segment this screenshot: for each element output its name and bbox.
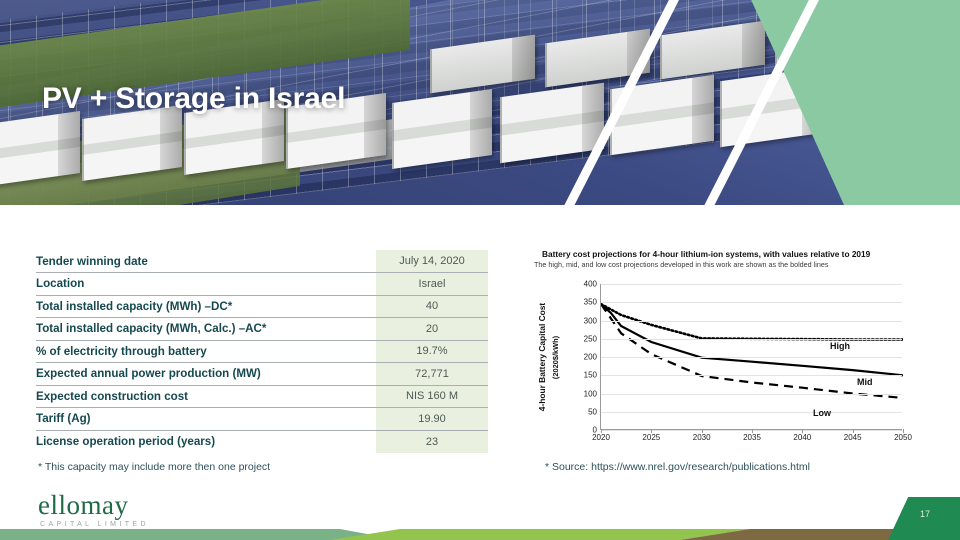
chart-gridline — [601, 302, 902, 303]
table-row: Tariff (Ag) 19.90 — [36, 408, 488, 431]
chart-y-tick: 200 — [584, 353, 597, 362]
chart-plot-area: 0501001502002503003504002020202520302035… — [600, 284, 902, 430]
chart-y-tick: 300 — [584, 316, 597, 325]
row-label: Tariff (Ag) — [36, 408, 376, 431]
chart-x-tick: 2035 — [743, 433, 761, 442]
slide: PV + Storage in Israel Tender winning da… — [0, 0, 960, 540]
row-label: Location — [36, 273, 376, 296]
chart-x-tick: 2040 — [793, 433, 811, 442]
bottom-color-strip — [0, 529, 960, 540]
table-row: Total installed capacity (MWh, Calc.) –A… — [36, 318, 488, 341]
row-label: % of electricity through battery — [36, 340, 376, 363]
logo-wordmark: ellomay — [38, 492, 149, 519]
table-row: License operation period (years) 23 — [36, 430, 488, 453]
row-value: 19.7% — [376, 340, 488, 363]
footnote-table: * This capacity may include more then on… — [38, 461, 270, 473]
project-spec-table: Tender winning date July 14, 2020 Locati… — [36, 250, 488, 453]
table-row: Expected annual power production (MW) 72… — [36, 363, 488, 386]
y-axis-label-text: 4-hour Battery Capital Cost — [537, 303, 547, 411]
chart-y-tick: 150 — [584, 371, 597, 380]
chart-gridline — [601, 284, 902, 285]
chart-x-tick: 2030 — [693, 433, 711, 442]
table-row: Total installed capacity (MWh) –DC* 40 — [36, 295, 488, 318]
series-label-mid: Mid — [857, 377, 873, 387]
footnote-chart-source: * Source: https://www.nrel.gov/research/… — [545, 461, 810, 473]
table-row: % of electricity through battery 19.7% — [36, 340, 488, 363]
chart-gridline — [601, 394, 902, 395]
chart-gridline — [601, 321, 902, 322]
row-value: 19.90 — [376, 408, 488, 431]
row-value: 72,771 — [376, 363, 488, 386]
row-label: Expected construction cost — [36, 385, 376, 408]
chart-y-tick: 350 — [584, 298, 597, 307]
page-title: PV + Storage in Israel — [42, 82, 345, 116]
y-axis-units-text: (2020$/kWh) — [552, 335, 561, 378]
chart-x-tick: 2025 — [642, 433, 660, 442]
row-value: 20 — [376, 318, 488, 341]
table-body: Tender winning date July 14, 2020 Locati… — [36, 250, 488, 453]
chart-y-tick: 100 — [584, 389, 597, 398]
row-value: NIS 160 M — [376, 385, 488, 408]
strip-segment-teal — [0, 529, 400, 540]
row-label: Total installed capacity (MWh) –DC* — [36, 295, 376, 318]
company-logo: ellomay CAPITAL LIMITED — [38, 492, 149, 528]
chart-gridline — [601, 357, 902, 358]
logo-tagline: CAPITAL LIMITED — [38, 521, 149, 528]
page-number: 17 — [920, 509, 930, 519]
strip-segment-lime — [330, 529, 750, 540]
row-value: 23 — [376, 430, 488, 453]
chart-title: Battery cost projections for 4-hour lith… — [542, 249, 922, 259]
chart-subtitle: The high, mid, and low cost projections … — [534, 260, 924, 269]
chart-y-tick: 400 — [584, 280, 597, 289]
row-label: Expected annual power production (MW) — [36, 363, 376, 386]
chart-x-tick: 2045 — [844, 433, 862, 442]
hero-banner: PV + Storage in Israel — [0, 0, 960, 205]
chart-x-tick: 2050 — [894, 433, 912, 442]
row-label: Total installed capacity (MWh, Calc.) –A… — [36, 318, 376, 341]
row-value: Israel — [376, 273, 488, 296]
battery-cost-chart: Battery cost projections for 4-hour lith… — [530, 248, 920, 453]
row-value: July 14, 2020 — [376, 250, 488, 273]
row-value: 40 — [376, 295, 488, 318]
chart-y-axis-units: (2020$/kWh) — [550, 284, 562, 430]
series-label-high: High — [830, 341, 850, 351]
chart-gridline — [601, 339, 902, 340]
chart-series-high — [601, 304, 903, 339]
chart-y-tick: 50 — [588, 407, 597, 416]
table-row: Tender winning date July 14, 2020 — [36, 250, 488, 273]
table-row: Location Israel — [36, 273, 488, 296]
row-label: Tender winning date — [36, 250, 376, 273]
series-label-low: Low — [813, 408, 831, 418]
chart-y-axis-label: 4-hour Battery Capital Cost — [536, 284, 548, 430]
chart-y-tick: 250 — [584, 334, 597, 343]
row-label: License operation period (years) — [36, 430, 376, 453]
chart-gridline — [601, 412, 902, 413]
chart-x-tick: 2020 — [592, 433, 610, 442]
table-row: Expected construction cost NIS 160 M — [36, 385, 488, 408]
